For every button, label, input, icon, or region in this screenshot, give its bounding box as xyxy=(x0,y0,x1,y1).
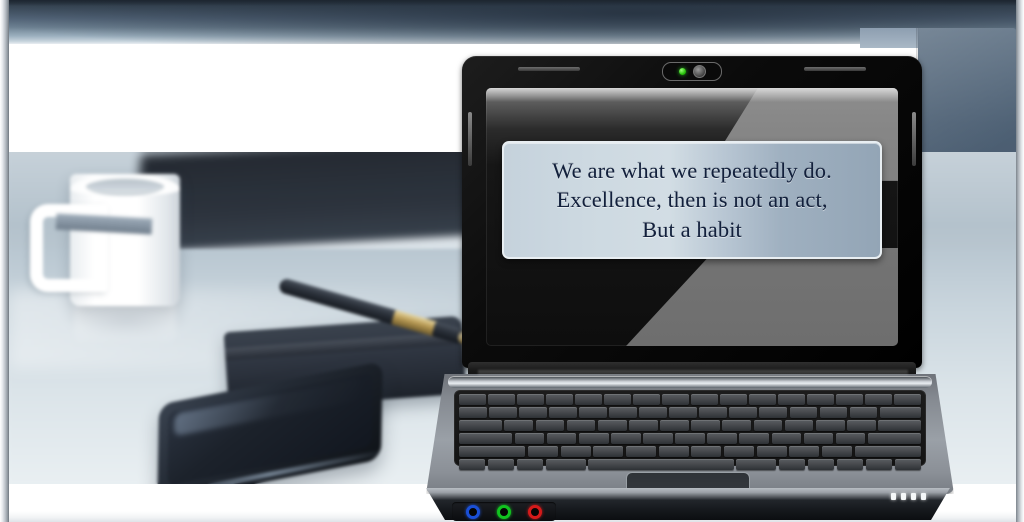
key[interactable] xyxy=(729,407,757,418)
key[interactable] xyxy=(722,420,751,431)
key[interactable] xyxy=(504,420,533,431)
key-row-2 xyxy=(459,407,921,418)
key[interactable] xyxy=(662,394,689,405)
key[interactable] xyxy=(639,407,667,418)
arrow-left-key[interactable] xyxy=(837,459,863,470)
screen-top-sheen xyxy=(486,88,898,102)
key[interactable] xyxy=(724,446,754,457)
key[interactable] xyxy=(691,394,718,405)
bezel-hinge-mark-right xyxy=(912,112,916,166)
line-out-jack-icon[interactable] xyxy=(497,505,511,519)
key[interactable] xyxy=(720,394,747,405)
key[interactable] xyxy=(567,420,596,431)
left-alt-key[interactable] xyxy=(546,459,586,470)
key[interactable] xyxy=(804,433,834,444)
space-key[interactable] xyxy=(588,459,734,470)
key-row-1 xyxy=(459,394,921,405)
key[interactable] xyxy=(807,394,834,405)
right-ctrl-key[interactable] xyxy=(808,459,834,470)
key[interactable] xyxy=(528,446,558,457)
coffee-mug xyxy=(70,174,180,306)
foreground-laptop: We are what we repeatedly do. Excellence… xyxy=(418,56,958,522)
key[interactable] xyxy=(579,407,607,418)
key[interactable] xyxy=(459,407,487,418)
key[interactable] xyxy=(699,407,727,418)
key[interactable] xyxy=(691,420,720,431)
menu-key[interactable] xyxy=(779,459,805,470)
key[interactable] xyxy=(598,420,627,431)
webcam-lens-icon xyxy=(693,65,706,78)
key[interactable] xyxy=(790,407,818,418)
key[interactable] xyxy=(515,433,545,444)
key[interactable] xyxy=(536,420,565,431)
key-row-3 xyxy=(459,420,921,431)
key[interactable] xyxy=(749,394,776,405)
bezel-hinge-mark-left xyxy=(468,112,472,166)
key[interactable] xyxy=(609,407,637,418)
key[interactable] xyxy=(785,420,814,431)
microphone-jack-icon[interactable] xyxy=(528,505,542,519)
quote-line-1: We are what we repeatedly do. xyxy=(552,156,832,185)
webcam-module xyxy=(662,62,722,81)
key[interactable] xyxy=(579,433,609,444)
deck-chrome-lip xyxy=(448,376,932,388)
mug-reflection xyxy=(74,302,176,346)
key[interactable] xyxy=(626,446,656,457)
key[interactable] xyxy=(865,394,892,405)
key[interactable] xyxy=(546,394,573,405)
key[interactable] xyxy=(691,446,721,457)
key[interactable] xyxy=(669,407,697,418)
key[interactable] xyxy=(836,394,863,405)
key[interactable] xyxy=(660,420,689,431)
key[interactable] xyxy=(707,433,737,444)
quote-line-3: But a habit xyxy=(642,215,742,244)
backspace-key[interactable] xyxy=(880,407,921,418)
quote-card: We are what we repeatedly do. Excellence… xyxy=(502,141,882,259)
key[interactable] xyxy=(459,394,486,405)
key[interactable] xyxy=(611,433,641,444)
key[interactable] xyxy=(519,407,547,418)
audio-jack-panel xyxy=(452,502,556,521)
key[interactable] xyxy=(517,394,544,405)
laptop-screen[interactable]: We are what we repeatedly do. Excellence… xyxy=(486,88,898,346)
key[interactable] xyxy=(778,394,805,405)
key[interactable] xyxy=(836,433,866,444)
status-led-battery-icon xyxy=(901,493,906,500)
mug-interior xyxy=(86,180,164,193)
left-ctrl-key[interactable] xyxy=(459,459,485,470)
key[interactable] xyxy=(894,394,921,405)
arrow-right-key[interactable] xyxy=(895,459,921,470)
key[interactable] xyxy=(575,394,602,405)
key-row-4 xyxy=(459,433,921,444)
status-led-group xyxy=(891,493,926,500)
enter-key[interactable] xyxy=(878,420,921,431)
left-frame-bevel xyxy=(0,0,9,522)
laptop-keyboard[interactable] xyxy=(454,390,926,466)
fn-key[interactable] xyxy=(488,459,514,470)
status-led-drive-icon xyxy=(911,493,916,500)
key[interactable] xyxy=(643,433,673,444)
key[interactable] xyxy=(847,420,876,431)
key[interactable] xyxy=(754,420,783,431)
key[interactable] xyxy=(675,433,705,444)
webcam-status-led-icon xyxy=(679,68,686,75)
capslock-key[interactable] xyxy=(459,433,512,444)
key[interactable] xyxy=(561,446,591,457)
key[interactable] xyxy=(604,394,631,405)
laptop-lid: We are what we repeatedly do. Excellence… xyxy=(462,56,922,368)
key[interactable] xyxy=(850,407,878,418)
speaker-grille-right-icon xyxy=(804,67,866,71)
key[interactable] xyxy=(772,433,802,444)
status-led-power-icon xyxy=(891,493,896,500)
key-row-6 xyxy=(459,459,921,470)
right-alt-key[interactable] xyxy=(736,459,776,470)
key[interactable] xyxy=(659,446,689,457)
speaker-grille-left-icon xyxy=(518,67,580,71)
key[interactable] xyxy=(822,446,852,457)
key[interactable] xyxy=(759,407,787,418)
key[interactable] xyxy=(547,433,577,444)
arrow-updown-key[interactable] xyxy=(866,459,892,470)
key[interactable] xyxy=(488,394,515,405)
right-frame-bevel xyxy=(1016,0,1024,522)
key[interactable] xyxy=(633,394,660,405)
status-led-wifi-icon xyxy=(921,493,926,500)
key[interactable] xyxy=(593,446,623,457)
quote-line-2: Excellence, then is not an act, xyxy=(556,185,827,214)
screenshot-canvas: We are what we repeatedly do. Excellence… xyxy=(0,0,1024,522)
key[interactable] xyxy=(757,446,787,457)
key[interactable] xyxy=(820,407,848,418)
key[interactable] xyxy=(816,420,845,431)
line-in-jack-icon[interactable] xyxy=(466,505,480,519)
key[interactable] xyxy=(789,446,819,457)
left-shift-key[interactable] xyxy=(459,446,525,457)
return-key[interactable] xyxy=(868,433,921,444)
key[interactable] xyxy=(489,407,517,418)
top-right-accent-chip xyxy=(860,28,918,48)
tab-key[interactable] xyxy=(459,420,502,431)
key[interactable] xyxy=(739,433,769,444)
key-row-5 xyxy=(459,446,921,457)
right-shift-key[interactable] xyxy=(855,446,921,457)
key[interactable] xyxy=(629,420,658,431)
key[interactable] xyxy=(549,407,577,418)
super-key[interactable] xyxy=(517,459,543,470)
